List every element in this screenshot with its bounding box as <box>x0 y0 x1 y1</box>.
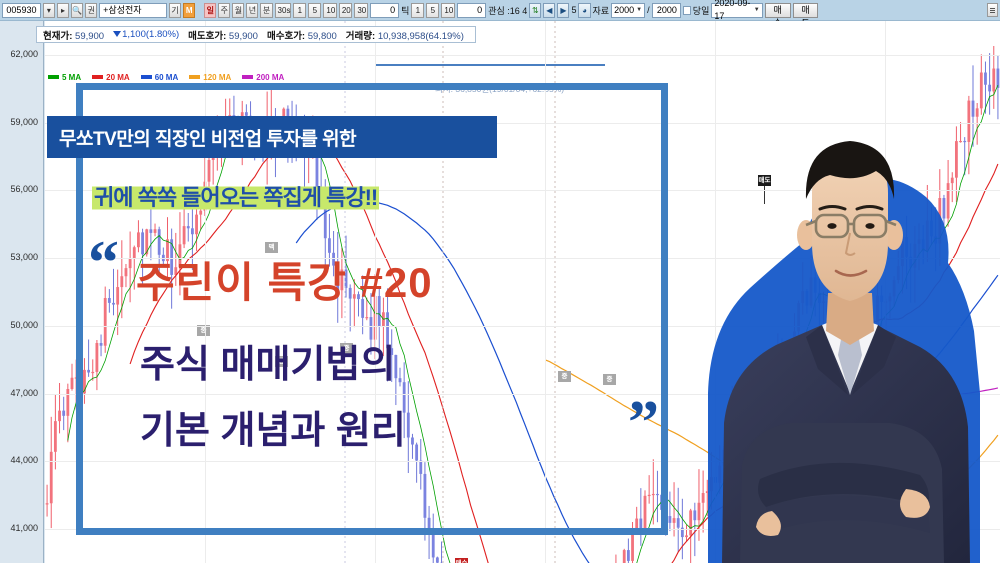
banner-text: 무쏘TV만의 직장인 비전업 투자를 위한 <box>59 124 356 151</box>
price-info-bar: 현재가: 59,9001,100(1.80%)매도호가: 59,900매수호가:… <box>36 26 476 43</box>
page-title: 주린이 특강 #20 <box>136 249 433 310</box>
tick-label: 틱 <box>401 4 409 17</box>
list-icon[interactable] <box>987 3 998 17</box>
sell-marker-arrow <box>764 186 765 204</box>
tick-30s-button[interactable]: 30s <box>275 3 292 18</box>
quan-button[interactable]: 권 <box>85 3 97 18</box>
current-price-value: 59,900 <box>75 31 104 42</box>
ma-color-swatch-icon <box>141 75 152 79</box>
tick-1-button[interactable]: 1 <box>293 3 306 18</box>
bid-group: 매수호가: 59,800 <box>267 28 337 42</box>
tick2-1-button[interactable]: 1 <box>411 3 424 18</box>
subtitle-line-2: 기본 개념과 원리 <box>140 399 406 454</box>
moving-average-legend: 5 MA20 MA60 MA120 MA200 MA <box>48 71 284 83</box>
next-arrow-icon[interactable]: ▶ <box>557 3 569 18</box>
y-axis-tick: 41,000 <box>10 523 38 533</box>
current-price-label: 현재가: <box>43 31 72 42</box>
slash-separator: / <box>647 5 650 15</box>
search-icon[interactable]: 🔍 <box>71 3 83 18</box>
period-week-button[interactable]: 주 <box>218 3 230 18</box>
y-axis-tick: 50,000 <box>10 320 38 330</box>
bid-label: 매수호가: <box>267 31 305 42</box>
ma-legend-label: 200 MA <box>256 73 284 82</box>
highlight-line: 귀에 쏙쏙 들어오는 쪽집게 특강!! <box>92 179 562 213</box>
tick2-value-input[interactable]: 0 <box>457 3 486 18</box>
horizontal-gridline <box>45 55 1000 56</box>
nav-count: 5 <box>571 5 576 15</box>
chart-toolbar[interactable]: 005930 ▾ ▸ 🔍 권 +삼성전자 기 M 일 주 월 년 분 30s 1… <box>0 0 1000 21</box>
sell-marker: 매도 <box>758 175 771 186</box>
vertical-gridline <box>885 21 886 563</box>
stock-name-input[interactable]: +삼성전자 <box>99 3 167 18</box>
ma-color-swatch-icon <box>48 75 59 79</box>
ma-legend-label: 5 MA <box>62 73 81 82</box>
stock-code-input[interactable]: 005930 <box>2 3 41 18</box>
ma-legend-label: 60 MA <box>155 73 179 82</box>
today-checkbox[interactable] <box>683 6 691 15</box>
ma-legend-item-0: 5 MA <box>48 73 81 82</box>
bid-value: 59,800 <box>308 31 337 42</box>
tick-20-button[interactable]: 20 <box>339 3 352 18</box>
clock-icon[interactable]: ◕ <box>578 3 590 18</box>
period-year-button[interactable]: 년 <box>246 3 258 18</box>
m-button[interactable]: M <box>183 3 195 18</box>
tick2-5-button[interactable]: 5 <box>426 3 439 18</box>
y-axis-tick: 59,000 <box>10 117 38 127</box>
ma-color-swatch-icon <box>189 75 200 79</box>
price-change-value: 1,100(1.80%) <box>113 29 179 40</box>
highlight-text: 귀에 쏙쏙 들어오는 쪽집게 특강!! <box>92 180 379 212</box>
y-axis-tick: 62,000 <box>10 49 38 59</box>
ma-legend-label: 120 MA <box>203 73 231 82</box>
tick-10-button[interactable]: 10 <box>323 3 336 18</box>
tick2-10-button[interactable]: 10 <box>441 3 454 18</box>
ma-legend-item-3: 120 MA <box>189 73 231 82</box>
y-axis-tick: 47,000 <box>10 388 38 398</box>
sell-button[interactable]: 매도 <box>793 3 819 18</box>
date-select[interactable]: 2020-09-17 ▼ <box>711 3 762 18</box>
quote-open-mark: “ <box>88 243 119 283</box>
banner-strip: 무쏘TV만의 직장인 비전업 투자를 위한 <box>47 116 497 158</box>
chart-area[interactable]: 62,00059,00056,00053,00050,00047,00044,0… <box>0 21 1000 563</box>
period-day-button[interactable]: 일 <box>204 3 216 18</box>
ask-group: 매도호가: 59,900 <box>188 28 258 42</box>
prev-arrow-icon[interactable]: ◀ <box>543 3 555 18</box>
ma-color-swatch-icon <box>92 75 103 79</box>
ma-legend-item-1: 20 MA <box>92 73 130 82</box>
y-axis-tick: 44,000 <box>10 455 38 465</box>
data-total-input[interactable]: 2000 <box>652 3 681 18</box>
gi-button[interactable]: 기 <box>169 3 181 18</box>
chevron-down-icon: ▼ <box>636 4 642 17</box>
ma-legend-label: 20 MA <box>106 73 130 82</box>
tick-5-button[interactable]: 5 <box>308 3 321 18</box>
tick-value-input[interactable]: 0 <box>370 3 399 18</box>
data-label: 자료 <box>593 4 610 17</box>
vertical-gridline <box>715 21 716 563</box>
code-next-icon[interactable]: ▸ <box>57 3 69 18</box>
subtitle-line-1: 주식 매매기법의 <box>140 333 395 388</box>
today-label: 당일 <box>693 4 710 17</box>
chevron-down-icon: ▼ <box>754 4 760 17</box>
tick-30-button[interactable]: 30 <box>354 3 367 18</box>
buy-marker: 매수 <box>455 558 468 563</box>
interest-label: 관심 :16 4 <box>488 4 527 17</box>
period-minute-button[interactable]: 분 <box>260 3 272 18</box>
refresh-icon[interactable]: ⇅ <box>529 3 541 18</box>
date-value: 2020-09-17 <box>714 0 751 23</box>
data-count-value: 2000 <box>614 4 634 17</box>
code-dropdown-icon[interactable]: ▾ <box>43 3 55 18</box>
period-month-button[interactable]: 월 <box>232 3 244 18</box>
ma-color-swatch-icon <box>242 75 253 79</box>
volume-label: 거래량: <box>346 31 375 42</box>
ask-value: 59,900 <box>229 31 258 42</box>
current-price-group: 현재가: 59,900 <box>43 28 104 42</box>
quote-close-mark: ” <box>628 403 659 443</box>
buy-button[interactable]: 매수 <box>765 3 791 18</box>
down-triangle-icon <box>113 31 121 37</box>
ma-legend-item-2: 60 MA <box>141 73 179 82</box>
volume-group: 거래량: 10,938,958(64.19%) <box>346 28 464 42</box>
ask-label: 매도호가: <box>188 31 226 42</box>
volume-value: 10,938,958(64.19%) <box>378 31 464 42</box>
y-axis-tick: 56,000 <box>10 184 38 194</box>
price-axis: 62,00059,00056,00053,00050,00047,00044,0… <box>0 21 44 563</box>
data-count-select[interactable]: 2000 ▼ <box>611 3 645 18</box>
y-axis-tick: 53,000 <box>10 252 38 262</box>
ma-legend-item-4: 200 MA <box>242 73 284 82</box>
